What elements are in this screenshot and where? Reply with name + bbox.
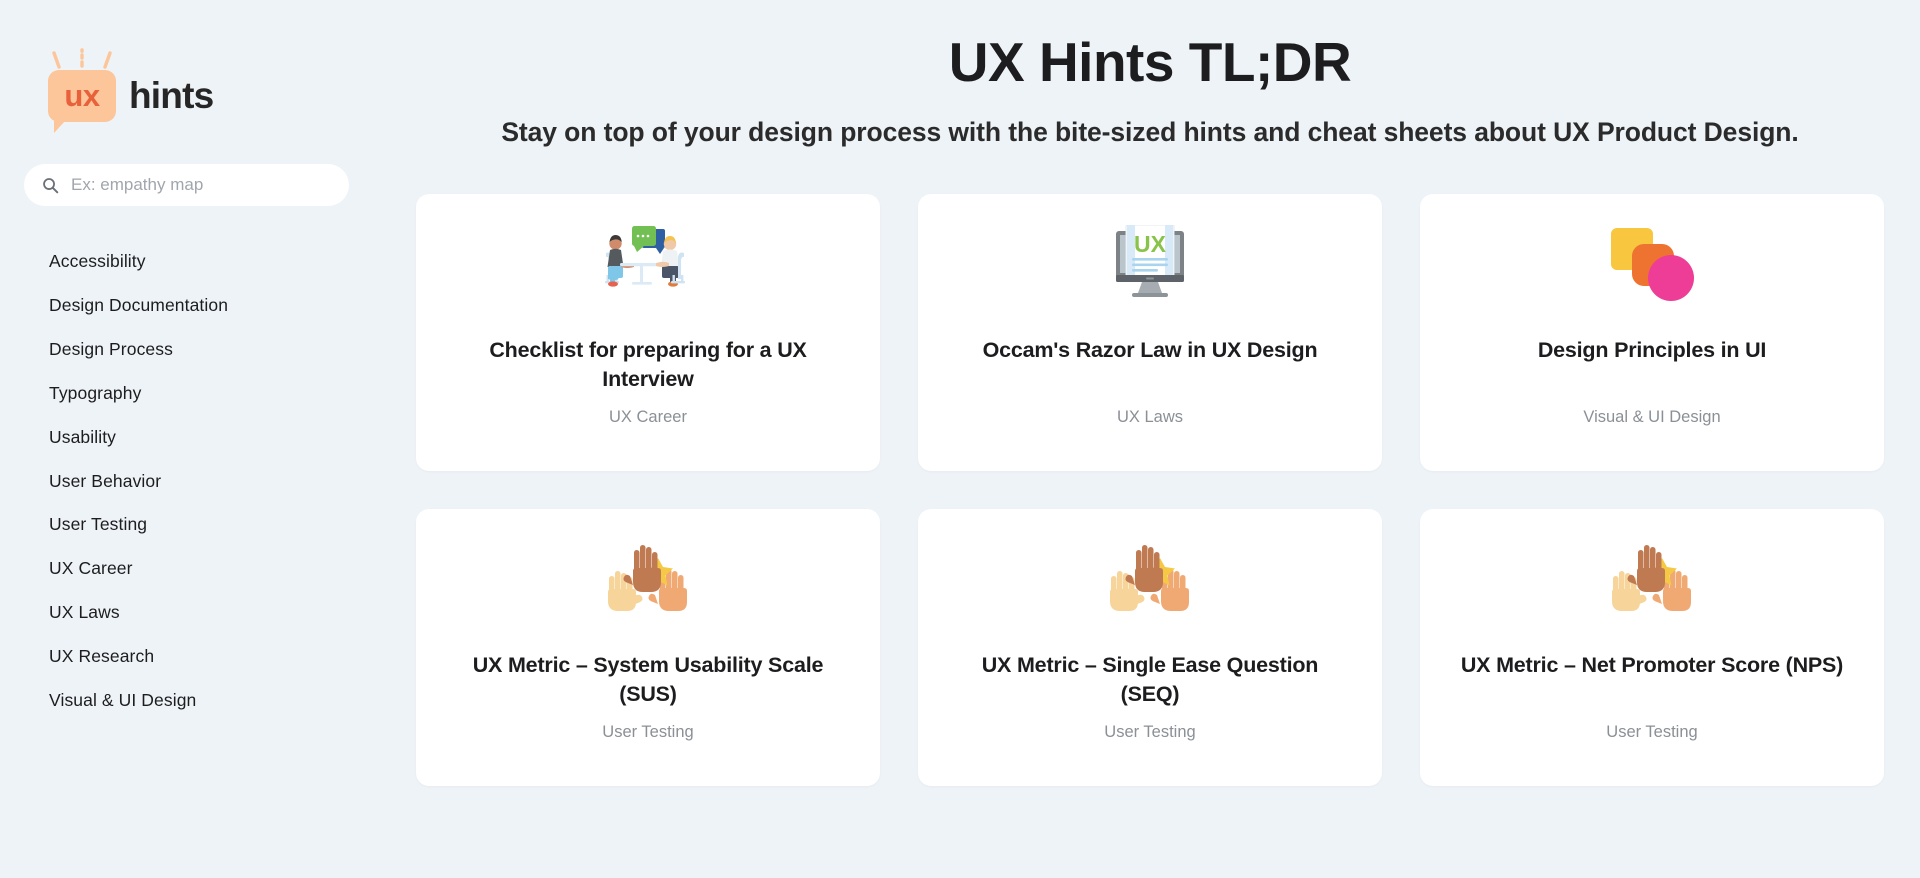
logo-speech-bubble-icon: ux (48, 70, 116, 122)
hint-card-title: Checklist for preparing for a UX Intervi… (448, 336, 848, 393)
sidebar-item-user-testing[interactable]: User Testing (49, 503, 410, 547)
sidebar: ux hints Accessibility Design Documentat… (0, 0, 410, 878)
hint-card[interactable]: Checklist for preparing for a UX Intervi… (416, 194, 880, 471)
raised-hands-illustration-icon (605, 539, 691, 621)
svg-text:UX: UX (1134, 231, 1167, 257)
sidebar-item-design-documentation[interactable]: Design Documentation (49, 284, 410, 328)
sidebar-nav: Accessibility Design Documentation Desig… (0, 240, 410, 723)
search-input[interactable] (71, 175, 331, 195)
sidebar-item-ux-laws[interactable]: UX Laws (49, 591, 410, 635)
hint-card-category: UX Laws (1117, 408, 1183, 427)
page-subtitle: Stay on top of your design process with … (450, 114, 1850, 151)
sidebar-item-usability[interactable]: Usability (49, 416, 410, 460)
search-box[interactable] (24, 164, 349, 206)
logo-rays-icon (48, 48, 116, 70)
sidebar-item-accessibility[interactable]: Accessibility (49, 240, 410, 284)
logo[interactable]: ux hints (0, 42, 410, 126)
hint-card-title: Occam's Razor Law in UX Design (983, 336, 1318, 365)
sidebar-item-ux-career[interactable]: UX Career (49, 547, 410, 591)
main-content: UX Hints TL;DR Stay on top of your desig… (410, 0, 1920, 878)
hint-card[interactable]: Design Principles in UI Visual & UI Desi… (1420, 194, 1884, 471)
sidebar-item-user-behavior[interactable]: User Behavior (49, 459, 410, 503)
logo-wordmark: hints (129, 77, 213, 114)
hint-card[interactable]: UX Metric – Single Ease Question (SEQ) U… (918, 509, 1382, 786)
hint-card-title: UX Metric – Net Promoter Score (NPS) (1461, 651, 1843, 680)
search-icon (42, 177, 59, 194)
sidebar-item-typography[interactable]: Typography (49, 372, 410, 416)
hint-card-category: UX Career (609, 408, 687, 427)
hint-card[interactable]: UX Metric – Net Promoter Score (NPS) Use… (1420, 509, 1884, 786)
hint-card-title: UX Metric – Single Ease Question (SEQ) (950, 651, 1350, 708)
page-title: UX Hints TL;DR (416, 34, 1884, 92)
hint-card-category: User Testing (1104, 723, 1195, 742)
raised-hands-illustration-icon (1107, 539, 1193, 621)
logo-bubble-text: ux (64, 80, 99, 111)
hint-card-category: Visual & UI Design (1583, 408, 1720, 427)
sidebar-item-visual-ui-design[interactable]: Visual & UI Design (49, 679, 410, 723)
shapes-illustration-icon (1609, 224, 1695, 306)
sidebar-item-ux-research[interactable]: UX Research (49, 635, 410, 679)
hint-card[interactable]: UX Metric – System Usability Scale (SUS)… (416, 509, 880, 786)
hint-card-category: User Testing (1606, 723, 1697, 742)
app-root: ux hints Accessibility Design Documentat… (0, 0, 1920, 878)
interview-illustration-icon (598, 224, 698, 306)
hint-card-title: Design Principles in UI (1538, 336, 1766, 365)
hint-card-grid: Checklist for preparing for a UX Intervi… (416, 194, 1884, 786)
sidebar-item-design-process[interactable]: Design Process (49, 328, 410, 372)
hint-card-title: UX Metric – System Usability Scale (SUS) (448, 651, 848, 708)
logo-mark: ux (48, 48, 116, 126)
raised-hands-illustration-icon (1609, 539, 1695, 621)
hint-card-category: User Testing (602, 723, 693, 742)
hint-card[interactable]: UX Occam's Razor Law in UX Design UX Law… (918, 194, 1382, 471)
monitor-ux-illustration-icon: UX (1106, 224, 1194, 306)
